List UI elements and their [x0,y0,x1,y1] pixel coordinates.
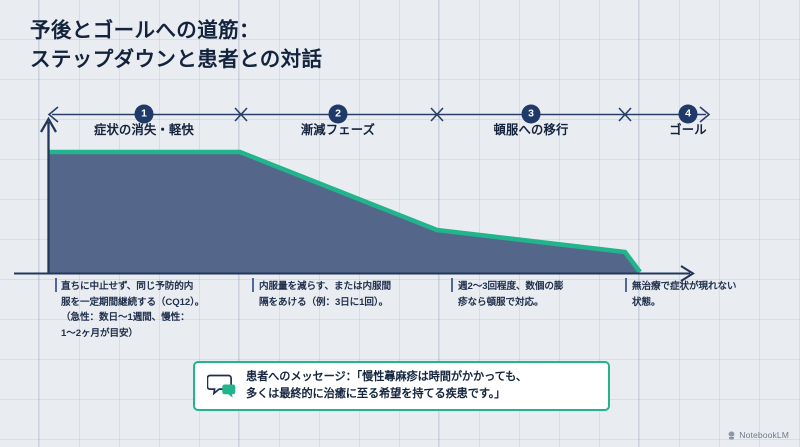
watermark: NotebookLM [727,430,789,440]
page-title: 予後とゴールへの道筋： ステップダウンと患者との対話 [30,16,730,74]
area-fill [48,153,640,273]
patient-message-callout: 患者へのメッセージ：「慢性蕁麻疹は時間がかかっても、 多くは最終的に治癒に至る希… [193,361,610,411]
phase-label-1: 症状の消失・軽快 [94,120,194,138]
slide-canvas: 予後とゴールへの道筋： ステップダウンと患者との対話 [0,0,800,447]
curve-line [48,152,640,272]
y-axis-arrow-icon [41,119,56,132]
phase-label-3: 頓服への移行 [494,120,569,138]
phase-label-2: 漸減フェーズ [301,120,375,138]
notebooklm-icon [727,431,736,440]
phase-label-4: ゴール [669,120,707,138]
patient-message-text: 患者へのメッセージ：「慢性蕁麻疹は時間がかかっても、 多くは最終的に治癒に至る希… [246,369,527,404]
phase-note-2: 内服量を減らす、または内服間 隔をあける（例：3日に1回）。 [259,279,449,310]
timeline-start-marker [49,107,58,122]
watermark-label: NotebookLM [739,430,789,440]
speech-bubble-icon [207,373,237,399]
phase-note-4: 無治療で症状が現れない 状態。 [632,279,792,310]
phase-note-3: 週2～3回程度、数個の膨 疹なら頓服で対応。 [458,279,623,310]
timeline-divider-x [235,108,631,121]
phase-note-1: 直ちに中止せず、同じ予防的内 服を一定期間継続する（CQ12）。 （急性：数日～… [61,279,251,341]
